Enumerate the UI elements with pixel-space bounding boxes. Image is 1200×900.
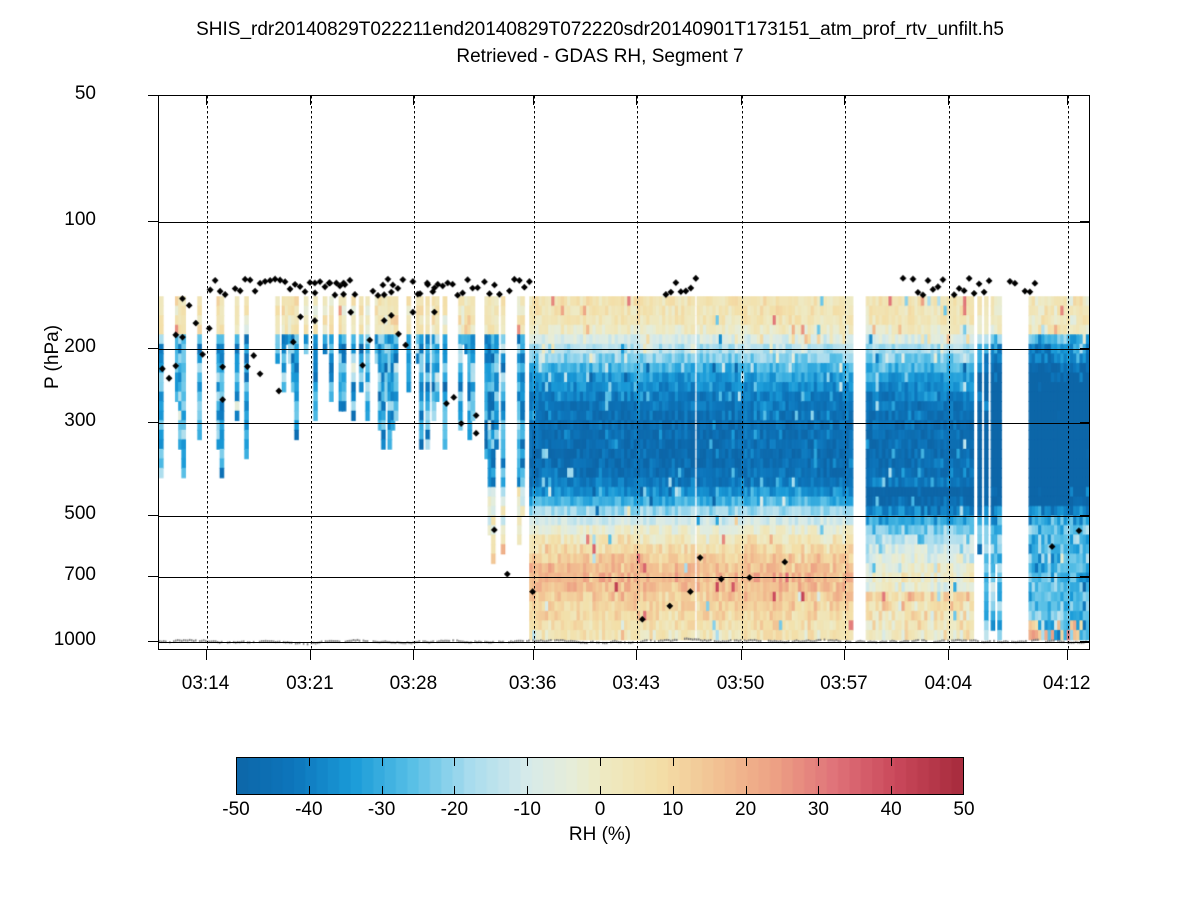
- y-tick-label: 500: [64, 503, 96, 525]
- x-tick-label: 03:28: [390, 673, 438, 695]
- y-tick-mark-right: [1080, 576, 1090, 577]
- colorbar-tick-label: 30: [808, 799, 829, 821]
- colorbar-tick-mark-bottom: [746, 786, 747, 795]
- x-tick-mark: [1067, 650, 1068, 660]
- figure-root: SHIS_rdr20140829T022211end20140829T07222…: [0, 0, 1200, 900]
- x-tick-label: 03:36: [509, 673, 557, 695]
- colorbar-tick-mark: [309, 757, 310, 766]
- colorbar-tick-mark-bottom: [600, 786, 601, 795]
- colorbar-tick-mark-bottom: [818, 786, 819, 795]
- y-tick-mark: [148, 515, 158, 516]
- plot-area[interactable]: [158, 95, 1090, 650]
- y-tick-mark: [148, 641, 158, 642]
- colorbar-tick-label: -40: [295, 799, 322, 821]
- x-tick-mark: [533, 650, 534, 660]
- colorbar-tick-mark-bottom: [673, 786, 674, 795]
- colorbar-tick-mark: [818, 757, 819, 766]
- x-tick-mark: [948, 650, 949, 660]
- x-tick-label: 03:50: [717, 673, 765, 695]
- colorbar-tick-mark: [891, 757, 892, 766]
- x-tick-mark: [636, 650, 637, 660]
- y-tick-label: 1000: [54, 629, 96, 651]
- x-tick-mark: [844, 650, 845, 660]
- x-tick-label: 03:43: [612, 673, 660, 695]
- y-tick-mark: [148, 422, 158, 423]
- colorbar-tick-mark: [600, 757, 601, 766]
- x-tick-mark-top: [741, 95, 742, 105]
- x-tick-mark-top: [533, 95, 534, 105]
- x-tick-label: 03:57: [820, 673, 868, 695]
- x-tick-mark-top: [310, 95, 311, 105]
- title-line-subtitle: Retrieved - GDAS RH, Segment 7: [0, 43, 1200, 70]
- y-tick-mark-right: [1080, 95, 1090, 96]
- colorbar-tick-mark: [382, 757, 383, 766]
- colorbar-tick-mark: [673, 757, 674, 766]
- y-tick-label: 700: [64, 564, 96, 586]
- y-tick-mark: [148, 95, 158, 96]
- figure-title: SHIS_rdr20140829T022211end20140829T07222…: [0, 16, 1200, 70]
- title-line-filename: SHIS_rdr20140829T022211end20140829T07222…: [0, 16, 1200, 43]
- x-tick-mark-top: [636, 95, 637, 105]
- x-tick-mark: [741, 650, 742, 660]
- x-tick-mark: [413, 650, 414, 660]
- y-tick-label: 50: [75, 83, 96, 105]
- colorbar-tick-label: 0: [595, 799, 606, 821]
- x-tick-label: 03:14: [182, 673, 230, 695]
- colorbar-tick-mark-bottom: [891, 786, 892, 795]
- colorbar-tick-label: 20: [735, 799, 756, 821]
- colorbar-tick-mark-bottom: [382, 786, 383, 795]
- colorbar-tick-label: 10: [662, 799, 683, 821]
- x-tick-mark-top: [844, 95, 845, 105]
- colorbar-tick-label: 50: [953, 799, 974, 821]
- cloud-marker-canvas: [159, 96, 1089, 649]
- y-tick-mark-right: [1080, 641, 1090, 642]
- colorbar-title: RH (%): [0, 824, 1200, 846]
- colorbar-tick-mark-bottom: [454, 786, 455, 795]
- y-tick-mark-right: [1080, 348, 1090, 349]
- colorbar-tick-mark: [454, 757, 455, 766]
- y-tick-mark-right: [1080, 221, 1090, 222]
- x-tick-label: 03:21: [286, 673, 334, 695]
- y-tick-label: 100: [64, 209, 96, 231]
- x-tick-label: 04:12: [1043, 673, 1091, 695]
- colorbar-tick-mark-bottom: [527, 786, 528, 795]
- colorbar-tick-label: -50: [222, 799, 249, 821]
- y-tick-mark: [148, 576, 158, 577]
- y-axis-label: P (hPa): [42, 287, 64, 427]
- x-tick-mark-top: [206, 95, 207, 105]
- colorbar-tick-label: -10: [513, 799, 540, 821]
- x-tick-mark-top: [948, 95, 949, 105]
- x-tick-mark: [310, 650, 311, 660]
- colorbar-tick-mark: [527, 757, 528, 766]
- y-tick-mark: [148, 348, 158, 349]
- x-tick-label: 04:04: [925, 673, 973, 695]
- x-tick-mark: [206, 650, 207, 660]
- y-tick-label: 300: [64, 410, 96, 432]
- colorbar-tick-label: 40: [881, 799, 902, 821]
- y-tick-label: 200: [64, 336, 96, 358]
- y-tick-mark-right: [1080, 515, 1090, 516]
- colorbar-tick-label: -20: [441, 799, 468, 821]
- x-tick-mark-top: [413, 95, 414, 105]
- colorbar-tick-mark-bottom: [309, 786, 310, 795]
- y-tick-mark-right: [1080, 422, 1090, 423]
- colorbar-tick-label: -30: [368, 799, 395, 821]
- y-tick-mark: [148, 221, 158, 222]
- colorbar-tick-mark: [746, 757, 747, 766]
- x-tick-mark-top: [1067, 95, 1068, 105]
